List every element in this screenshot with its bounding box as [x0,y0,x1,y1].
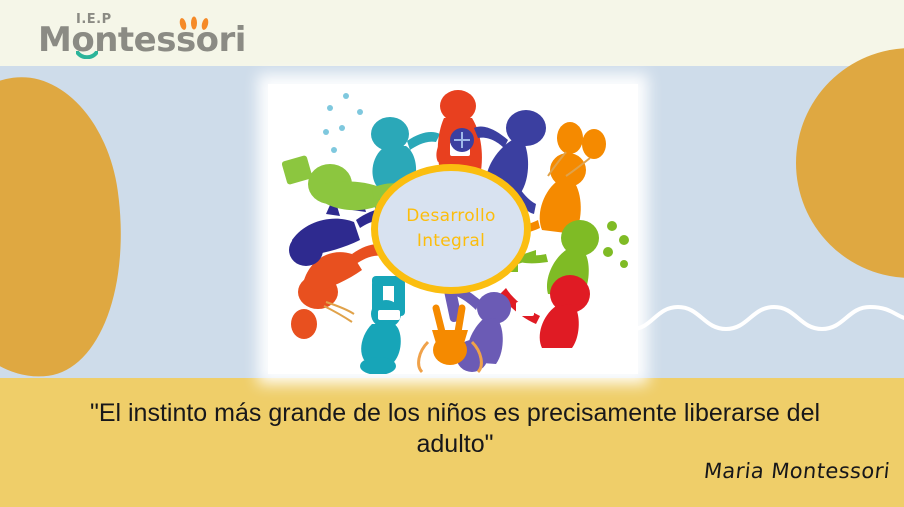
center-label-line1: Desarrollo [406,204,495,229]
child-apple-red [500,275,590,348]
logo-orange-dots-icon [177,16,211,30]
child-sitting-teal [360,276,405,374]
center-label-oval: Desarrollo Integral [371,164,531,294]
decorative-wave-line [630,295,904,341]
school-logo[interactable]: I.E.P Montessori [24,4,254,64]
quote-author: Maria Montessori [609,459,892,483]
center-label-line2: Integral [417,229,485,254]
quote-text: "El instinto más grande de los niños es … [60,398,850,459]
illustration-panel: Desarrollo Integral [268,84,638,374]
slide-canvas: I.E.P Montessori [0,0,904,507]
logo-name-text: Montessori [38,20,246,60]
logo-green-smile-icon [76,51,98,59]
